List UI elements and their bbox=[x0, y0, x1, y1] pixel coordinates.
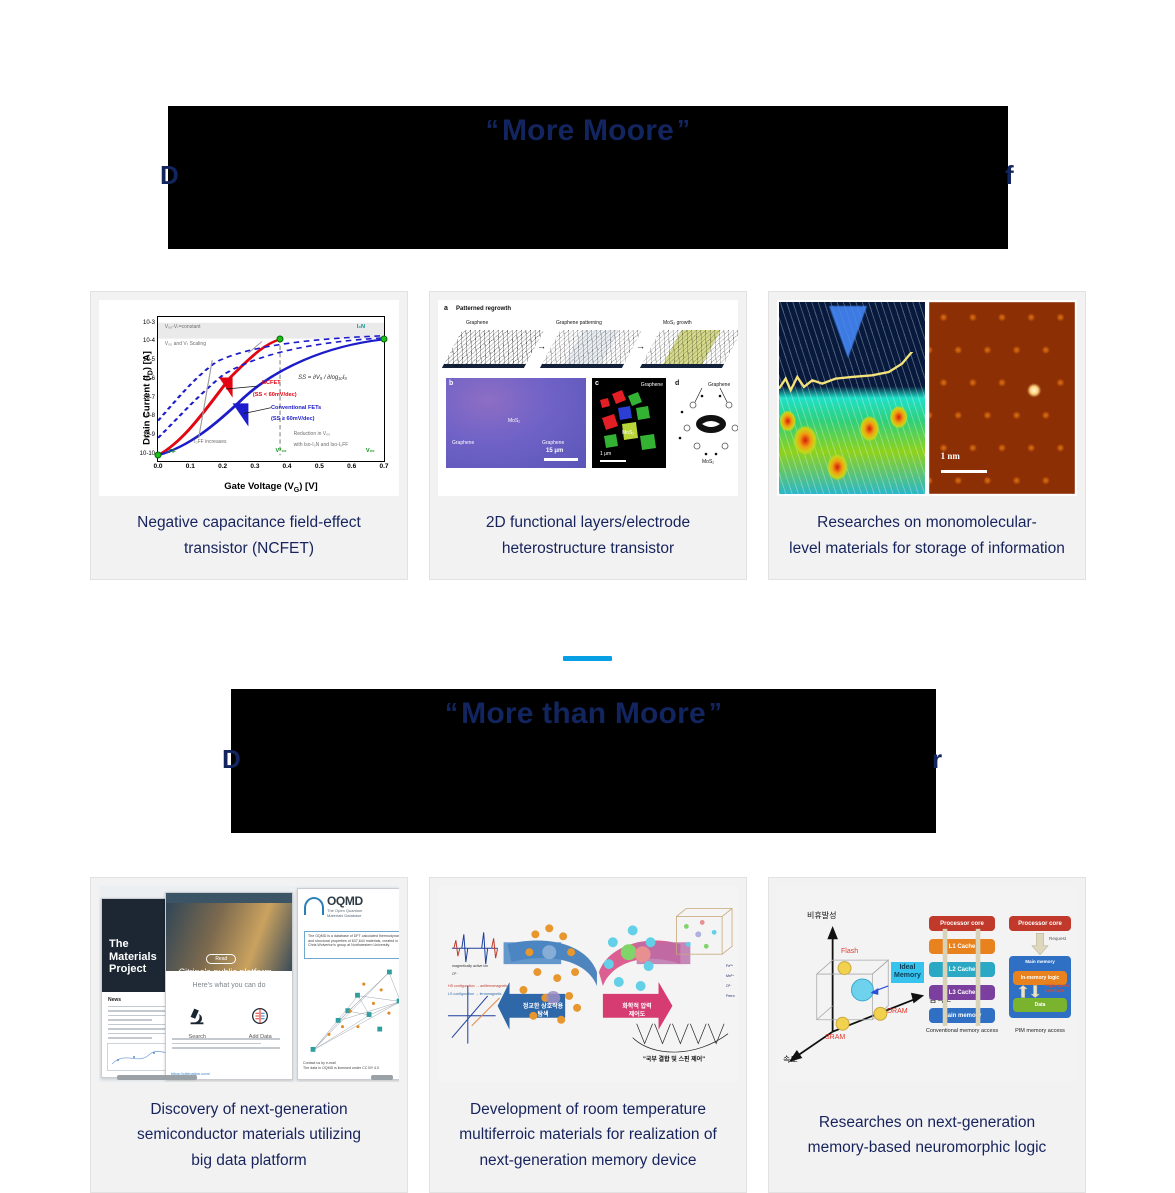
card-caption-2d-heterostructure: 2D functional layers/electrode heterostr… bbox=[430, 496, 746, 579]
section-divider bbox=[563, 656, 612, 661]
oqmd-footer-line: The data in OQMD is licensed under CC BY… bbox=[303, 1066, 379, 1070]
flow-arrow-icon: → bbox=[537, 342, 546, 351]
ncfet-chart-figure: Drain Current (ID) [A] Gate Voltage (VG)… bbox=[99, 300, 399, 496]
mp-title-line: Materials bbox=[109, 951, 157, 963]
panel-letter-b: b bbox=[449, 380, 453, 387]
y-tick: 10-7 bbox=[143, 395, 155, 401]
panel-letter-a: a bbox=[444, 305, 448, 312]
caption-line: multiferroic materials for realization o… bbox=[459, 1126, 717, 1143]
pim-interface-label: High-speed interface bbox=[1045, 983, 1070, 993]
caption-line: Discovery of next-generation bbox=[150, 1101, 347, 1118]
panel-d-diffraction-pattern: d Graphene MoS₂ bbox=[672, 378, 738, 468]
x-label-end: ) [V] bbox=[299, 481, 317, 492]
pim-main-memory-label: Main memory bbox=[1009, 959, 1071, 964]
ion-label-o: O²⁻ bbox=[726, 984, 732, 988]
legend-magnetic-ion: magnetically active ion bbox=[452, 964, 488, 968]
card-caption-neuromorphic: Researches on next-generation memory-bas… bbox=[769, 1082, 1085, 1192]
horizontal-scrollbar[interactable] bbox=[117, 1075, 197, 1080]
arrow-label-left-line: 정교한 상호작용 bbox=[523, 1004, 563, 1010]
citrine-body-lines bbox=[172, 1038, 286, 1064]
subtitle-fragment-right-more-moore: f bbox=[1005, 160, 1014, 191]
ion-label-ferro: Ferro bbox=[726, 994, 735, 998]
request-arrow-icon bbox=[1031, 933, 1049, 955]
chart-label-ncfet-ss: (SS < 60mV/dec) bbox=[253, 392, 297, 398]
citrine-hero-line: Citrine's public platform bbox=[179, 967, 272, 977]
add-data-icon bbox=[249, 1005, 271, 1027]
quote-open-icon: “ bbox=[442, 697, 461, 727]
panel-c-fluorescence-image: c Graphene MoS₂ 1 μm bbox=[592, 378, 666, 468]
citrine-action-row: Search Add Data bbox=[166, 1005, 292, 1040]
lattice-slab-2 bbox=[540, 330, 642, 368]
oqmd-footer-line: Contact us by e-mail bbox=[303, 1061, 336, 1065]
research-card-ncfet[interactable]: Drain Current (ID) [A] Gate Voltage (VG)… bbox=[90, 291, 408, 580]
chart-marker-label-ion: I₀N bbox=[357, 324, 365, 330]
memory-hierarchy-figure: 비휴발성 집적도 속도 Flash DRAM SRAM Ideal Memory… bbox=[777, 886, 1077, 1082]
chart-note-ioff-increases: I₀FF increases bbox=[194, 439, 226, 445]
pim-request-label: Request bbox=[1049, 936, 1066, 941]
subtitle-fragment-right-more-than-moore: r bbox=[932, 744, 942, 775]
ideal-memory-line: Ideal bbox=[899, 964, 915, 971]
horizontal-scrollbar[interactable] bbox=[371, 1075, 393, 1080]
ion-label-mn: Mn³⁺ bbox=[726, 974, 734, 978]
materials-databases-figure: The Materials Project News bbox=[99, 886, 399, 1082]
multiferroic-figure: 정교한 상호작용 탐색 화학적 압력 제어도 "국부 결합 및 스핀 제어" m… bbox=[438, 886, 738, 1082]
memory-label-flash: Flash bbox=[841, 948, 858, 955]
panel-d-graphics bbox=[672, 378, 738, 468]
chart-curves bbox=[158, 317, 384, 461]
panel-c-label-mos2: MoS₂ bbox=[622, 430, 634, 436]
section-quote-title-more-than-moore: “More than Moore” bbox=[231, 697, 936, 731]
data-marker-ion bbox=[381, 336, 388, 343]
highspeed-interface-arrows-icon bbox=[1017, 985, 1043, 998]
conventional-memory-caption: Conventional memory access bbox=[923, 1028, 1001, 1034]
ideal-memory-line: Memory bbox=[894, 972, 921, 979]
ion-label-fe: Fe³⁺ bbox=[726, 964, 733, 968]
panel-c-scale-label: 1 μm bbox=[600, 451, 611, 457]
card-caption-ncfet: Negative capacitance field-effect transi… bbox=[91, 496, 407, 579]
chart-label-conventional: Conventional FETs bbox=[271, 405, 321, 411]
caption-line: memory-based neuromorphic logic bbox=[808, 1139, 1047, 1156]
panel-a-title: Patterned regrowth bbox=[456, 306, 511, 312]
section-quote-title-more-moore: “More Moore” bbox=[168, 114, 1008, 148]
oqmd-brand: OQMD The Open Quantum Materials Database bbox=[304, 894, 363, 918]
citrine-subheading: Here's what you can do bbox=[166, 982, 292, 989]
oqmd-description-box: The OQMD is a database of DFT calculated… bbox=[304, 931, 399, 960]
pim-block-data: Data bbox=[1013, 998, 1067, 1012]
mp-title: The Materials Project bbox=[109, 938, 157, 976]
quote-open-icon: “ bbox=[483, 114, 502, 144]
chart-label-ncfet: NCFET bbox=[262, 380, 281, 386]
memory-label-dram: DRAM bbox=[887, 1008, 908, 1015]
research-card-neuromorphic[interactable]: 비휴발성 집적도 속도 Flash DRAM SRAM Ideal Memory… bbox=[768, 877, 1086, 1193]
caption-line: Negative capacitance field-effect bbox=[137, 514, 361, 531]
card-thumbnail-databases: The Materials Project News bbox=[99, 886, 399, 1082]
x-tick: 0.1 bbox=[186, 463, 195, 470]
card-thumbnail-stm: 1 nm bbox=[777, 300, 1077, 496]
chart-marker-label-ioff: I₀FF bbox=[165, 449, 176, 455]
card-caption-multiferroic: Development of room temperature multifer… bbox=[430, 1082, 746, 1192]
x-tick: 0.2 bbox=[218, 463, 227, 470]
research-card-multiferroic[interactable]: 정교한 상호작용 탐색 화학적 압력 제어도 "국부 결합 및 스핀 제어" m… bbox=[429, 877, 747, 1193]
pim-interface-line: interface bbox=[1045, 988, 1064, 993]
oqmd-logo-icon bbox=[304, 897, 324, 915]
citrine-read-button[interactable]: Read bbox=[206, 954, 236, 964]
citrine-nav-bar bbox=[166, 893, 292, 903]
caption-line: transistor (NCFET) bbox=[184, 540, 314, 557]
section-quote-text: More Moore bbox=[502, 114, 674, 147]
subtitle-fragment-left-more-than-moore: D bbox=[222, 744, 241, 775]
pim-block-processor-core: Processor core bbox=[1009, 916, 1071, 931]
research-card-2d-heterostructure[interactable]: a Patterned regrowth Graphene Graphene p… bbox=[429, 291, 747, 580]
x-tick: 0.3 bbox=[250, 463, 259, 470]
subtitle-fragment-left-more-moore: D bbox=[160, 160, 179, 191]
caption-line: Researches on next-generation bbox=[819, 1114, 1035, 1131]
citrine-window: Citrine's public platform materials and … bbox=[165, 892, 293, 1080]
y-tick: 10-6 bbox=[143, 376, 155, 382]
data-marker-vdd-star bbox=[277, 336, 284, 343]
x-label-main: Gate Voltage (V bbox=[224, 481, 294, 492]
card-caption-monomolecular: Researches on monomolecular- level mater… bbox=[769, 496, 1085, 579]
caption-line: heterostructure transistor bbox=[502, 540, 674, 557]
panel-b-scale-bar bbox=[544, 458, 578, 461]
x-tick: 0.0 bbox=[153, 463, 162, 470]
sio2-label: SiO₂ bbox=[454, 363, 462, 368]
y-tick: 10-3 bbox=[143, 320, 155, 326]
stm-atomic-resolution-image: 1 nm bbox=[929, 302, 1075, 494]
y-tick: 10-8 bbox=[143, 413, 155, 419]
arrow-label-right-line: 화학적 압력 bbox=[622, 1004, 651, 1010]
step-label-patterning: Graphene patterning bbox=[556, 320, 602, 326]
lattice-slab-3 bbox=[640, 330, 738, 368]
x-tick: 0.5 bbox=[315, 463, 324, 470]
card-caption-big-data-platform: Discovery of next-generation semiconduct… bbox=[91, 1082, 407, 1192]
stm-tip-icon bbox=[829, 306, 867, 358]
mp-title-line: The bbox=[109, 938, 129, 950]
panel-b-label-graphene-right: Graphene bbox=[542, 440, 564, 446]
card-thumbnail-graphene: a Patterned regrowth Graphene Graphene p… bbox=[438, 300, 738, 496]
mp-news-heading: News bbox=[108, 997, 121, 1003]
legend-oxygen: O²⁻ bbox=[452, 972, 458, 976]
panel-b-optical-image: b MoS₂ Graphene Graphene 15 μm bbox=[446, 378, 586, 468]
panel-c-scale-bar bbox=[600, 460, 626, 462]
quote-close-icon: ” bbox=[674, 114, 693, 144]
card-thumbnail-ncfet: Drain Current (ID) [A] Gate Voltage (VG)… bbox=[99, 300, 399, 496]
axis-label-nonvolatility: 비휴발성 bbox=[807, 910, 836, 921]
oqmd-name: OQMD bbox=[327, 894, 363, 908]
stm-spectrum-trace bbox=[779, 352, 925, 402]
panel-c-label-graphene: Graphene bbox=[641, 382, 663, 388]
legend-ls-config: LS configuration → ferromagnetic bbox=[448, 992, 502, 996]
chart-note-reduction-1: Reduction in V₀₀ bbox=[294, 431, 331, 437]
chart-x-axis-label: Gate Voltage (VG) [V] bbox=[157, 481, 385, 494]
panel-b-scale-label: 15 μm bbox=[546, 448, 563, 454]
pim-memory-caption: PIM memory access bbox=[1007, 1028, 1073, 1034]
ideal-memory-badge: Ideal Memory bbox=[891, 962, 924, 983]
section-heading-more-than-moore: “More than Moore” bbox=[231, 689, 936, 833]
oqmd-phase-diagram bbox=[298, 957, 399, 1063]
y-tick: 10-10 bbox=[140, 451, 155, 457]
chart-plot-area: 10-3 10-4 10-5 10-6 10-7 10-8 10-9 10-10… bbox=[157, 316, 385, 462]
arrow-label-left: 정교한 상호작용 탐색 bbox=[516, 1004, 570, 1020]
arrow-label-left-line: 탐색 bbox=[537, 1012, 548, 1018]
caption-line: 2D functional layers/electrode bbox=[486, 514, 690, 531]
caption-line: level materials for storage of informati… bbox=[789, 540, 1065, 557]
step-label-mos2-growth: MoS₂ growth bbox=[663, 320, 692, 326]
oqmd-footer: Contact us by e-mail The data in OQMD is… bbox=[303, 1061, 379, 1071]
panel-b-label-graphene-left: Graphene bbox=[452, 440, 474, 446]
card-thumbnail-memory: 비휴발성 집적도 속도 Flash DRAM SRAM Ideal Memory… bbox=[777, 886, 1077, 1082]
chart-ss-formula: SS = ∂V₉ / ∂log₁₀I₉ bbox=[298, 375, 347, 381]
chart-note-vdd-vt-constant: V₀₀-Vₜ=constant bbox=[165, 324, 201, 330]
panel-b-label-mos2: MoS₂ bbox=[508, 418, 520, 424]
axis-label-speed: 속도 bbox=[783, 1054, 798, 1065]
caption-line: Researches on monomolecular- bbox=[817, 514, 1037, 531]
chart-marker-label-vdd-star: V*₀₀ bbox=[276, 448, 287, 454]
caption-line: Development of room temperature bbox=[470, 1101, 706, 1118]
stack-connectors-left bbox=[929, 916, 995, 1026]
research-card-monomolecular[interactable]: 1 nm Researches on monomolecular- level … bbox=[768, 291, 1086, 580]
chart-marker-label-vdd: V₀₀ bbox=[366, 448, 375, 454]
research-showcase-page: “More Moore” D f Drain Current (ID) [A] … bbox=[0, 0, 1175, 1193]
card-thumbnail-multiferroic: 정교한 상호작용 탐색 화학적 압력 제어도 "국부 결합 및 스핀 제어" m… bbox=[438, 886, 738, 1082]
memory-label-sram: SRAM bbox=[825, 1034, 845, 1041]
caption-line: next-generation memory device bbox=[479, 1152, 696, 1169]
y-tick: 10-9 bbox=[143, 432, 155, 438]
quote-close-icon: ” bbox=[706, 697, 725, 727]
section-quote-text: More than Moore bbox=[461, 697, 706, 730]
x-tick: 0.6 bbox=[347, 463, 356, 470]
caption-line: big data platform bbox=[191, 1152, 306, 1169]
mp-title-line: Project bbox=[109, 963, 146, 975]
microscope-icon bbox=[186, 1005, 208, 1027]
oqmd-window: OQMD The Open Quantum Materials Database… bbox=[297, 888, 399, 1080]
oqmd-description: The OQMD is a database of DFT calculated… bbox=[305, 932, 399, 951]
graphene-mos2-figure: a Patterned regrowth Graphene Graphene p… bbox=[438, 300, 738, 496]
stm-3d-topography bbox=[779, 302, 925, 494]
x-tick: 0.7 bbox=[379, 463, 388, 470]
y-label-sub: D bbox=[147, 370, 154, 375]
y-tick: 10-5 bbox=[143, 357, 155, 363]
stm-scale-label: 1 nm bbox=[941, 451, 960, 461]
section-heading-more-moore: “More Moore” bbox=[168, 106, 1008, 249]
arrow-label-right: 화학적 압력 제어도 bbox=[610, 1004, 664, 1020]
arrow-label-right-line: 제어도 bbox=[629, 1012, 646, 1018]
legend-hs-config: HS configuration → antiferromagnetic bbox=[448, 984, 508, 988]
research-card-big-data-platform[interactable]: The Materials Project News bbox=[90, 877, 408, 1193]
y-tick: 10-4 bbox=[143, 338, 155, 344]
chart-note-vdd-vt-scaling: V₀₀ and Vₜ Scaling bbox=[165, 341, 206, 347]
stm-scale-bar bbox=[941, 470, 988, 473]
chart-label-conventional-ss: (SS ≥ 60mV/dec) bbox=[271, 416, 315, 422]
flow-arrow-icon: → bbox=[636, 342, 645, 351]
data-marker-ioff bbox=[155, 452, 162, 459]
oqmd-subtitle-line: Materials Database bbox=[327, 913, 361, 918]
caption-line: semiconductor materials utilizing bbox=[137, 1126, 361, 1143]
step-label-graphene: Graphene bbox=[466, 320, 488, 326]
oqmd-subtitle: The Open Quantum Materials Database bbox=[327, 908, 363, 918]
x-tick: 0.4 bbox=[283, 463, 292, 470]
stm-figure: 1 nm bbox=[777, 300, 1077, 496]
chart-note-reduction-2: with Iso-I₀N and Iso-I₀FF bbox=[294, 442, 349, 448]
multiferroic-bottom-caption: "국부 결합 및 스핀 제어" bbox=[643, 1054, 705, 1063]
